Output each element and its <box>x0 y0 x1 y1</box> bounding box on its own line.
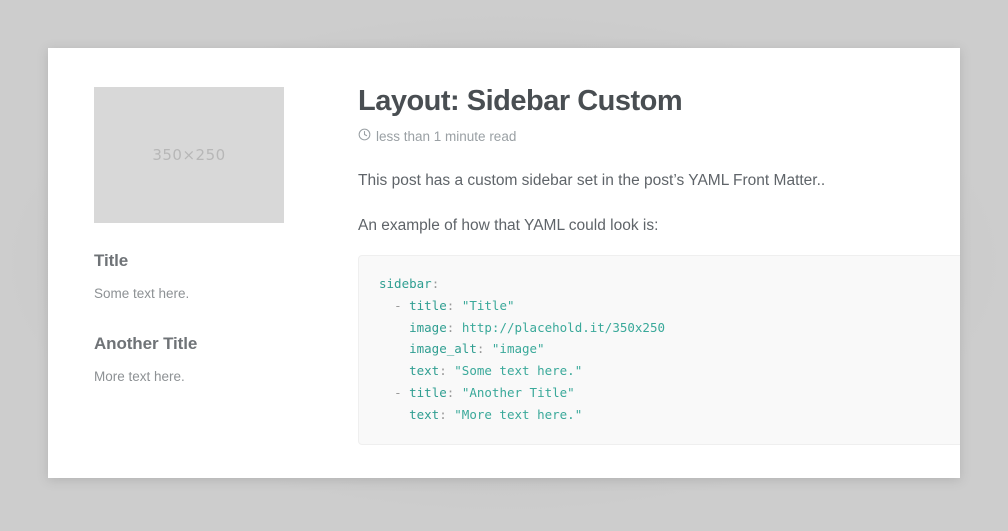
sidebar-block-heading: Title <box>94 251 312 271</box>
page-layout: 350×250 Title Some text here. Another Ti… <box>48 48 960 478</box>
page-card: 350×250 Title Some text here. Another Ti… <box>48 48 960 478</box>
code-line: text: "More text here." <box>379 404 960 426</box>
post-paragraph: This post has a custom sidebar set in th… <box>358 169 960 193</box>
post-sidebar: 350×250 Title Some text here. Another Ti… <box>48 48 312 408</box>
code-line: image: http://placehold.it/350x250 <box>379 317 960 339</box>
post-paragraph: An example of how that YAML could look i… <box>358 214 960 238</box>
code-line: image_alt: "image" <box>379 338 960 360</box>
yaml-code-block: sidebar: - title: "Title" image: http://… <box>358 255 960 445</box>
sidebar-figure: 350×250 <box>94 87 312 223</box>
post-meta: less than 1 minute read <box>358 128 960 144</box>
sidebar-block-text: More text here. <box>94 367 312 387</box>
yaml-code-body: sidebar: - title: "Title" image: http://… <box>379 273 960 425</box>
code-line: sidebar: <box>379 273 960 295</box>
code-line: text: "Some text here." <box>379 360 960 382</box>
sidebar-block-heading: Another Title <box>94 334 312 354</box>
page-title: Layout: Sidebar Custom <box>358 85 960 118</box>
sidebar-placeholder-image: 350×250 <box>94 87 284 223</box>
placeholder-image-label: 350×250 <box>152 146 225 164</box>
sidebar-block-text: Some text here. <box>94 284 312 304</box>
sidebar-block-another-title: Another Title More text here. <box>94 334 312 387</box>
code-line: - title: "Another Title" <box>379 382 960 404</box>
post-content: Layout: Sidebar Custom less than 1 minut… <box>312 48 960 445</box>
post-read-time: less than 1 minute read <box>376 129 516 144</box>
clock-icon <box>358 128 371 144</box>
sidebar-block-title: Title Some text here. <box>94 251 312 304</box>
code-line: - title: "Title" <box>379 295 960 317</box>
